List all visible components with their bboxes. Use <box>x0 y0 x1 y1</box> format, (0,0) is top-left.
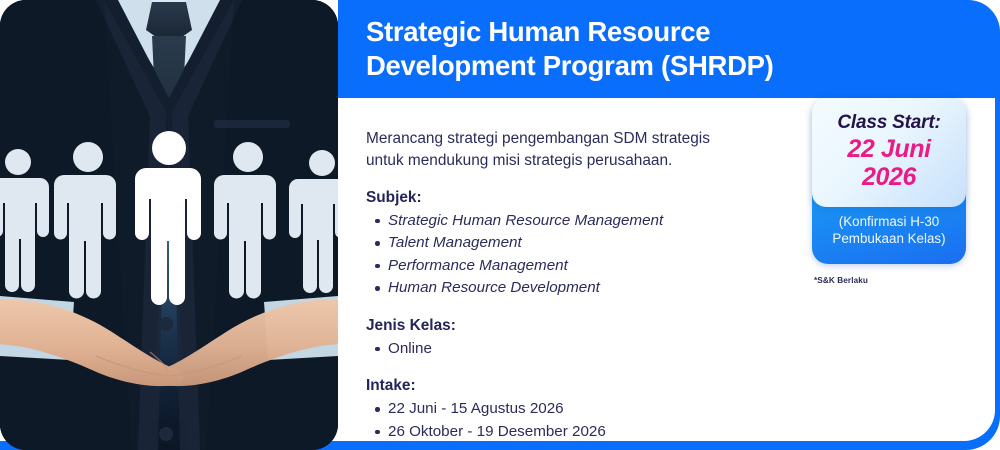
promo-card-stack: EARLY BIRD 10%* (Konfirmasi H-30 Pembuka… <box>812 126 966 264</box>
section-jenis-kelas: Jenis Kelas: Online <box>366 317 786 361</box>
jenis-kelas-list: Online <box>366 338 786 361</box>
promo-panel: EARLY BIRD 10%* (Konfirmasi H-30 Pembuka… <box>812 126 966 285</box>
content-column: Merancang strategi pengembangan SDM stra… <box>366 128 786 450</box>
banner-header: Strategic Human Resource Development Pro… <box>338 0 1000 98</box>
businessman-photo-illustration <box>0 0 338 450</box>
hero-photo <box>0 0 338 450</box>
list-item: Strategic Human Resource Management <box>388 210 786 233</box>
class-start-label: Class Start: <box>820 112 958 134</box>
list-item: Talent Management <box>388 232 786 255</box>
promotional-banner: Strategic Human Resource Development Pro… <box>0 0 1000 450</box>
section-intake: Intake: 22 Juni - 15 Agustus 2026 26 Okt… <box>366 377 786 443</box>
list-item: Performance Management <box>388 255 786 278</box>
class-start-card: Class Start: 22 Juni 2026 <box>812 98 966 207</box>
list-item: Human Resource Development <box>388 277 786 300</box>
list-item: 22 Juni - 15 Agustus 2026 <box>388 398 786 421</box>
intake-list: 22 Juni - 15 Agustus 2026 26 Oktober - 1… <box>366 398 786 443</box>
page-title: Strategic Human Resource Development Pro… <box>338 15 774 82</box>
list-item: 26 Oktober - 19 Desember 2026 <box>388 421 786 444</box>
terms-footnote: *S&K Berlaku <box>814 276 868 285</box>
section-heading: Subjek: <box>366 189 786 207</box>
discount-note: (Konfirmasi H-30 Pembukaan Kelas) <box>820 213 958 248</box>
class-start-date: 22 Juni 2026 <box>820 136 958 191</box>
section-heading: Jenis Kelas: <box>366 317 786 335</box>
list-item: Online <box>388 338 786 361</box>
intro-paragraph: Merancang strategi pengembangan SDM stra… <box>366 128 786 172</box>
section-subjek: Subjek: Strategic Human Resource Managem… <box>366 189 786 300</box>
section-heading: Intake: <box>366 377 786 395</box>
subjek-list: Strategic Human Resource Management Tale… <box>366 210 786 300</box>
